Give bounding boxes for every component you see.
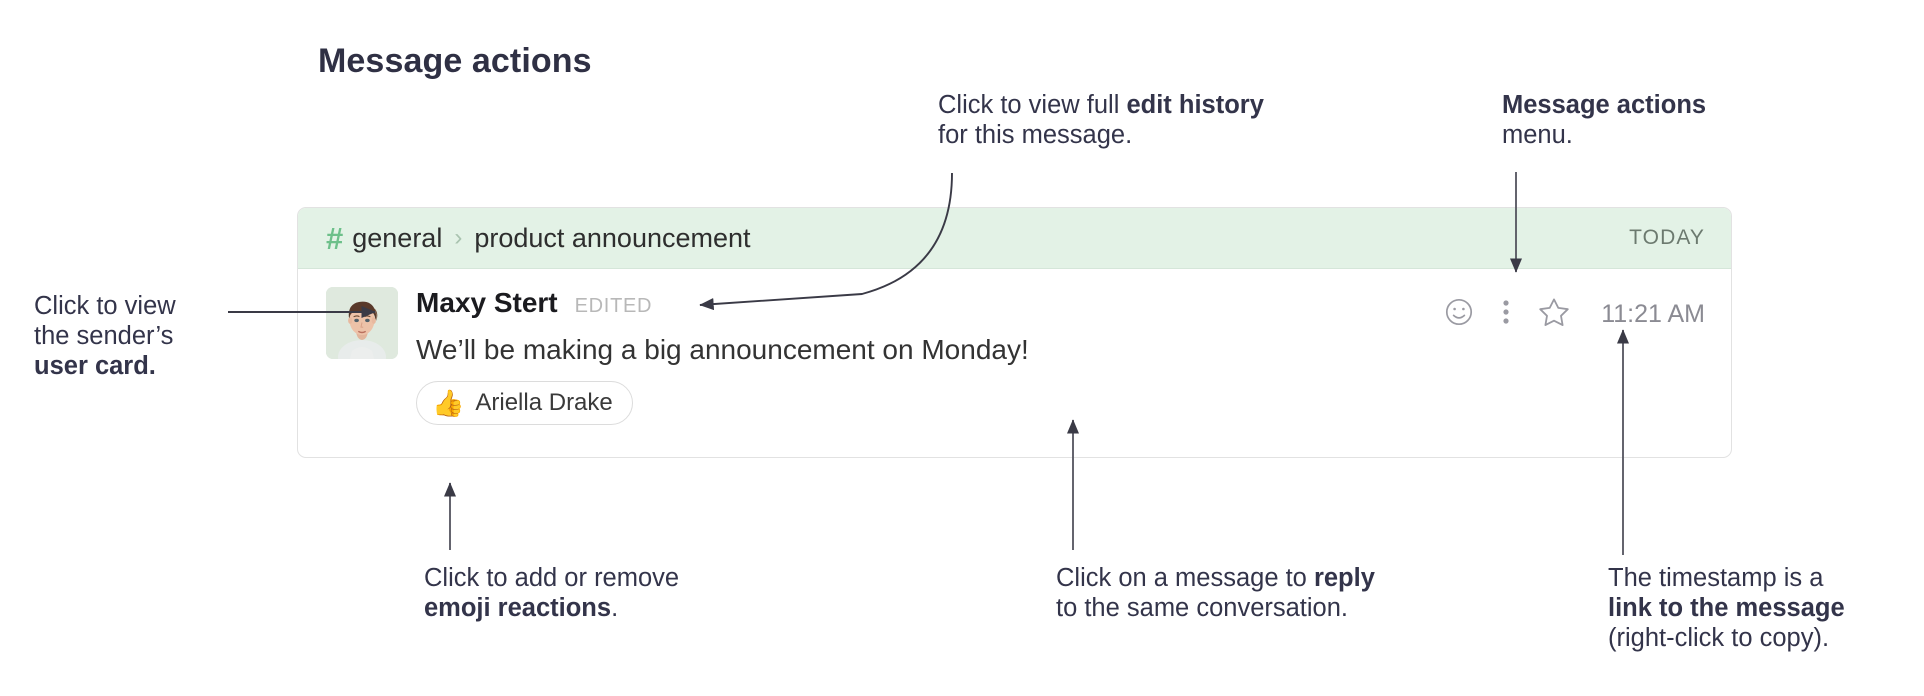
annotation-user-card: Click to view the sender’s user card.	[34, 291, 176, 381]
edited-badge[interactable]: EDITED	[575, 295, 653, 318]
annotation-line: menu.	[1502, 120, 1706, 150]
reaction-user-name: Ariella Drake	[475, 389, 612, 417]
avatar[interactable]	[326, 287, 398, 359]
annotation-line: emoji reactions.	[424, 593, 679, 623]
annotation-text: .	[611, 594, 618, 622]
annotation-emphasis: Message actions	[1502, 91, 1706, 119]
annotation-emphasis: emoji reactions	[424, 594, 611, 622]
message-row[interactable]: Maxy Stert EDITED We’ll be making a big …	[298, 269, 1731, 425]
chevron-right-icon: ›	[454, 224, 462, 252]
annotation-line: Click to view	[34, 291, 176, 321]
annotation-actions-menu: Message actions menu.	[1502, 90, 1706, 150]
annotation-line: to the same conversation.	[1056, 593, 1375, 623]
annotation-line: Click to add or remove	[424, 563, 679, 593]
annotation-emphasis: user card.	[34, 352, 156, 380]
avatar-image	[326, 287, 398, 359]
annotation-emphasis: reply	[1314, 564, 1375, 592]
day-label: TODAY	[1629, 226, 1705, 250]
smiley-face-icon[interactable]	[1443, 296, 1475, 333]
channel-name[interactable]: general	[352, 223, 442, 254]
sender-name[interactable]: Maxy Stert	[416, 287, 558, 319]
message-body[interactable]: We’ll be making a big announcement on Mo…	[416, 333, 1705, 367]
message-timestamp-link[interactable]: 11:21 AM	[1601, 300, 1705, 329]
annotation-emphasis: edit history	[1126, 91, 1263, 119]
annotation-line: Click to view full edit history	[938, 90, 1264, 120]
page-title: Message actions	[318, 42, 592, 81]
annotation-emoji-reactions: Click to add or remove emoji reactions.	[424, 563, 679, 623]
reaction-chip[interactable]: 👍 Ariella Drake	[416, 381, 633, 425]
annotation-line: Click on a message to reply	[1056, 563, 1375, 593]
vertical-dots-icon[interactable]	[1501, 296, 1511, 333]
annotation-text: Click to view full	[938, 91, 1126, 119]
annotation-timestamp: The timestamp is a link to the message (…	[1608, 563, 1845, 653]
annotation-text: Click on a message to	[1056, 564, 1314, 592]
annotation-line: for this message.	[938, 120, 1264, 150]
hash-icon: #	[326, 223, 343, 254]
annotation-line: link to the message	[1608, 593, 1845, 623]
message-actions[interactable]: 11:21 AM	[1443, 295, 1705, 334]
annotation-line: (right-click to copy).	[1608, 623, 1845, 653]
annotation-line: the sender’s	[34, 321, 176, 351]
topic-name[interactable]: product announcement	[474, 223, 750, 254]
annotation-reply: Click on a message to reply to the same …	[1056, 563, 1375, 623]
annotation-line: Message actions	[1502, 90, 1706, 120]
message-card[interactable]: # general › product announcement TODAY	[297, 207, 1732, 458]
annotation-line: user card.	[34, 351, 176, 381]
annotation-line: The timestamp is a	[1608, 563, 1845, 593]
annotation-emphasis: link to the message	[1608, 594, 1845, 622]
star-outline-icon[interactable]	[1537, 295, 1571, 334]
annotation-edit-history: Click to view full edit history for this…	[938, 90, 1264, 150]
conversation-header: # general › product announcement TODAY	[298, 208, 1731, 269]
thumbs-up-emoji: 👍	[432, 390, 464, 416]
